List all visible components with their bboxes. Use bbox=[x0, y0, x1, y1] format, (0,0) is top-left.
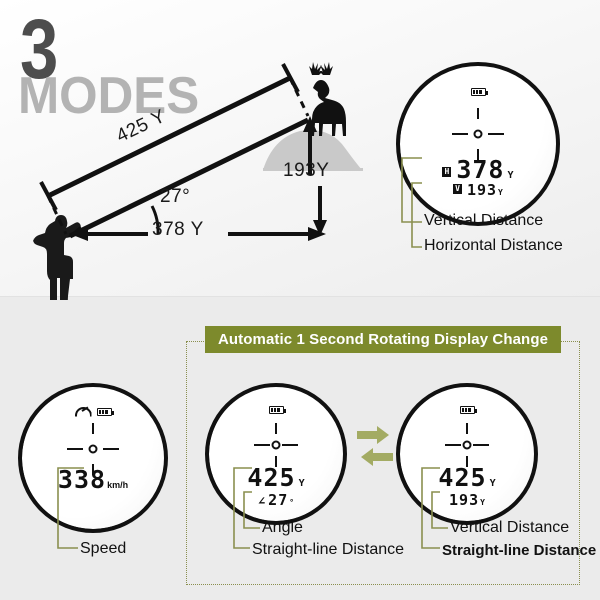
callout-straight-line-distance: Straight-line Distance bbox=[252, 541, 404, 559]
battery-icon bbox=[269, 406, 284, 414]
status-bar bbox=[18, 407, 168, 417]
infographic-root: 3 MODES bbox=[0, 0, 600, 600]
callout-straight-line-distance-2: Straight-line Distance bbox=[442, 542, 596, 559]
callout-vertical-distance: Vertical Distance bbox=[424, 212, 543, 230]
diagram-svg bbox=[0, 0, 390, 300]
arrow-right-icon bbox=[357, 426, 389, 444]
speedometer-icon bbox=[75, 407, 92, 417]
deer-silhouette bbox=[309, 62, 346, 136]
status-bar bbox=[396, 88, 560, 96]
label-vertical-distance: 193Y bbox=[283, 160, 329, 182]
callout-speed: Speed bbox=[80, 540, 126, 558]
battery-icon bbox=[460, 406, 475, 414]
rotating-section-banner: Automatic 1 Second Rotating Display Chan… bbox=[205, 326, 561, 353]
battery-icon bbox=[471, 88, 486, 96]
rotate-swap-arrows bbox=[355, 425, 395, 473]
label-angle: 27° bbox=[160, 186, 190, 208]
callout-horizontal-distance: Horizontal Distance bbox=[424, 237, 563, 255]
status-bar bbox=[205, 406, 347, 414]
geometry-diagram: 425 Y 27° 378 Y 193Y bbox=[0, 0, 390, 300]
callout-angle: Angle bbox=[262, 519, 303, 537]
label-horizontal-distance: 378 Y bbox=[152, 219, 204, 241]
callout-vertical-distance-2: Vertical Distance bbox=[450, 519, 569, 537]
battery-icon bbox=[97, 408, 112, 416]
arrow-left-icon bbox=[361, 448, 393, 466]
status-bar bbox=[396, 406, 538, 414]
hunter-silhouette bbox=[33, 215, 81, 300]
